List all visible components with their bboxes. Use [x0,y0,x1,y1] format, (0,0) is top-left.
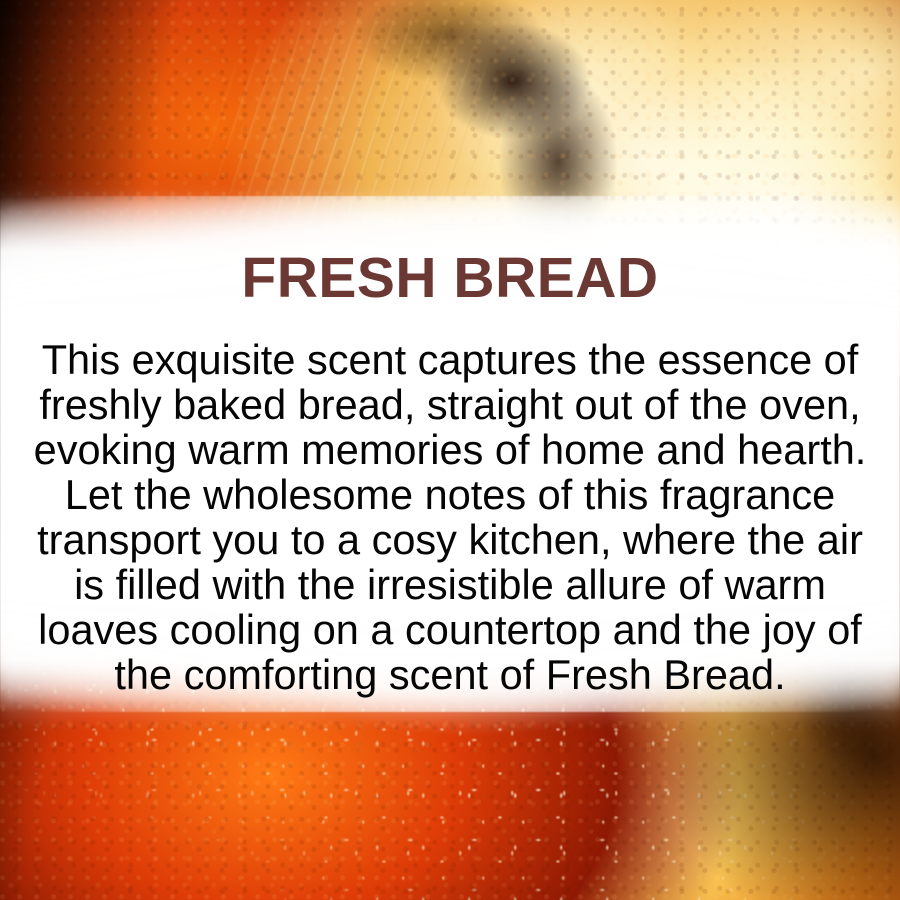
description-line: is filled with the irresistible allure o… [22,562,878,607]
description-line: transport you to a cosy kitchen, where t… [22,517,878,562]
page-title: FRESH BREAD [0,196,900,307]
description-text: This exquisite scent captures the essenc… [0,307,900,697]
description-line: evoking warm memories of home and hearth… [22,427,878,472]
description-line: the comforting scent of Fresh Bread. [22,652,878,697]
description-line: loaves cooling on a countertop and the j… [22,607,878,652]
description-line: Let the wholesome notes of this fragranc… [22,472,878,517]
caption-content: FRESH BREAD This exquisite scent capture… [0,196,900,697]
fresh-bread-poster: FRESH BREAD This exquisite scent capture… [0,0,900,900]
description-line: freshly baked bread, straight out of the… [22,382,878,427]
description-line: This exquisite scent captures the essenc… [22,337,878,382]
